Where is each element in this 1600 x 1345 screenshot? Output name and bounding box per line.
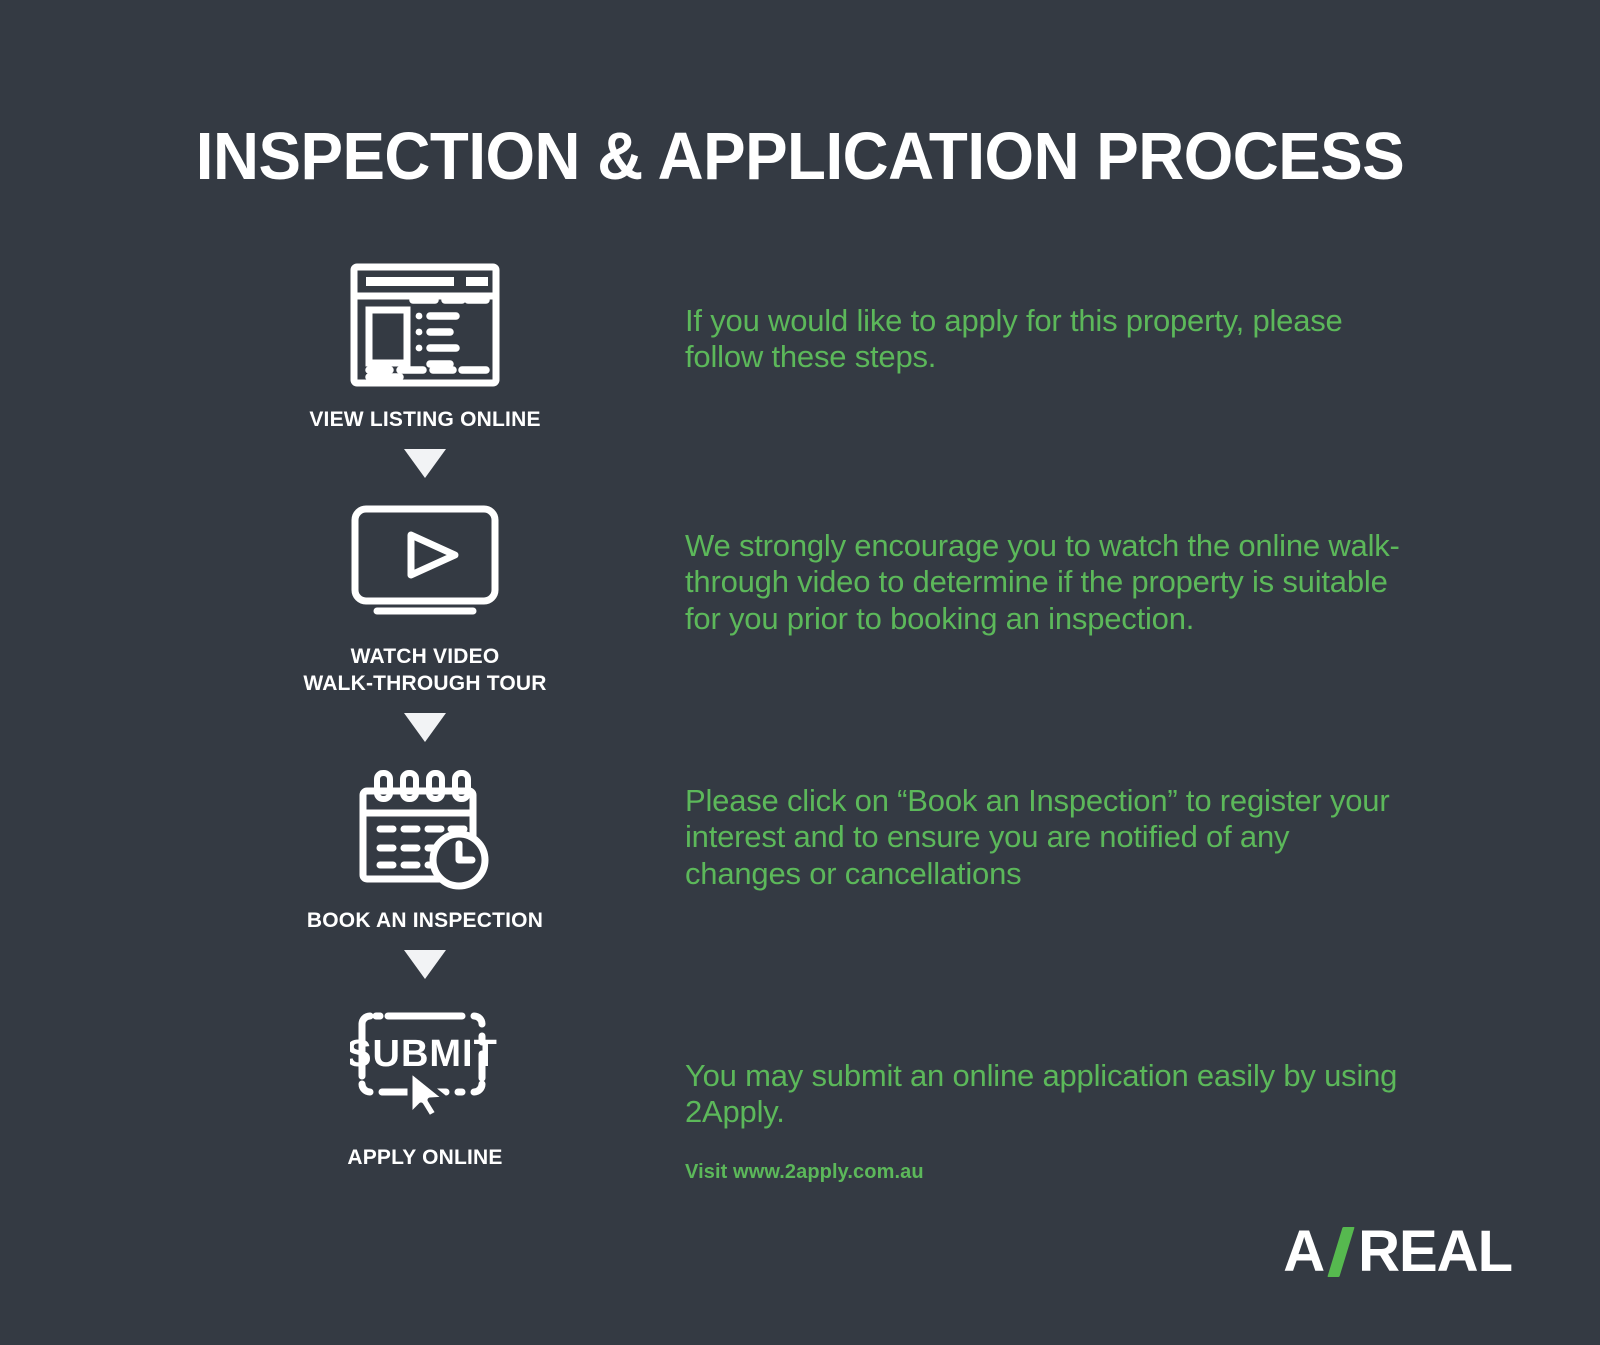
copy-text: We strongly encourage you to watch the o… <box>685 528 1405 637</box>
step-flow-column: VIEW LISTING ONLINE WATCH VIDEO WALK-THR… <box>230 255 620 1171</box>
step-label: VIEW LISTING ONLINE <box>230 407 620 433</box>
svg-text:SUBMIT: SUBMIT <box>350 1033 498 1075</box>
logo-letter-a: A <box>1283 1223 1324 1281</box>
logo-wordmark: REAL <box>1358 1223 1512 1281</box>
triangle-down-icon <box>404 713 446 742</box>
flow-arrow-1 <box>230 449 620 478</box>
copy-text: Please click on “Book an Inspection” to … <box>685 783 1405 892</box>
page-title: INSPECTION & APPLICATION PROCESS <box>40 118 1560 195</box>
copy-text: If you would like to apply for this prop… <box>685 303 1405 376</box>
flow-arrow-3 <box>230 950 620 979</box>
visit-url-text[interactable]: Visit www.2apply.com.au <box>685 1161 924 1184</box>
triangle-down-icon <box>404 950 446 979</box>
slash-icon <box>1326 1225 1356 1279</box>
copy-block-step4: You may submit an online application eas… <box>685 1058 1405 1131</box>
step-label: BOOK AN INSPECTION <box>230 908 620 934</box>
copy-block-step1: If you would like to apply for this prop… <box>685 303 1405 376</box>
step-label-line1: VIEW LISTING ONLINE <box>309 408 540 431</box>
browser-listing-icon <box>230 255 620 395</box>
step-label: APPLY ONLINE <box>230 1145 620 1171</box>
step-apply-online: SUBMIT APPLY ONLINE <box>230 993 620 1171</box>
copy-text: You may submit an online application eas… <box>685 1058 1405 1131</box>
step-label-line2: WALK-THROUGH TOUR <box>230 671 620 697</box>
step-book-an-inspection: BOOK AN INSPECTION <box>230 756 620 979</box>
copy-block-step2: We strongly encourage you to watch the o… <box>685 528 1405 637</box>
step-view-listing-online: VIEW LISTING ONLINE <box>230 255 620 478</box>
flow-arrow-2 <box>230 713 620 742</box>
step-label: WATCH VIDEO WALK-THROUGH TOUR <box>230 644 620 697</box>
submit-button-cursor-icon: SUBMIT <box>230 993 620 1133</box>
brand-logo: A REAL <box>1283 1222 1512 1282</box>
copy-block-step3: Please click on “Book an Inspection” to … <box>685 783 1405 892</box>
step-watch-video: WATCH VIDEO WALK-THROUGH TOUR <box>230 492 620 742</box>
step-label-line1: BOOK AN INSPECTION <box>307 909 543 932</box>
step-label-line1: WATCH VIDEO <box>230 644 620 670</box>
triangle-down-icon <box>404 449 446 478</box>
infographic-poster: INSPECTION & APPLICATION PROCESS <box>0 0 1600 1345</box>
video-play-monitor-icon <box>230 492 620 632</box>
calendar-clock-icon <box>230 756 620 896</box>
step-label-line1: APPLY ONLINE <box>347 1146 502 1169</box>
